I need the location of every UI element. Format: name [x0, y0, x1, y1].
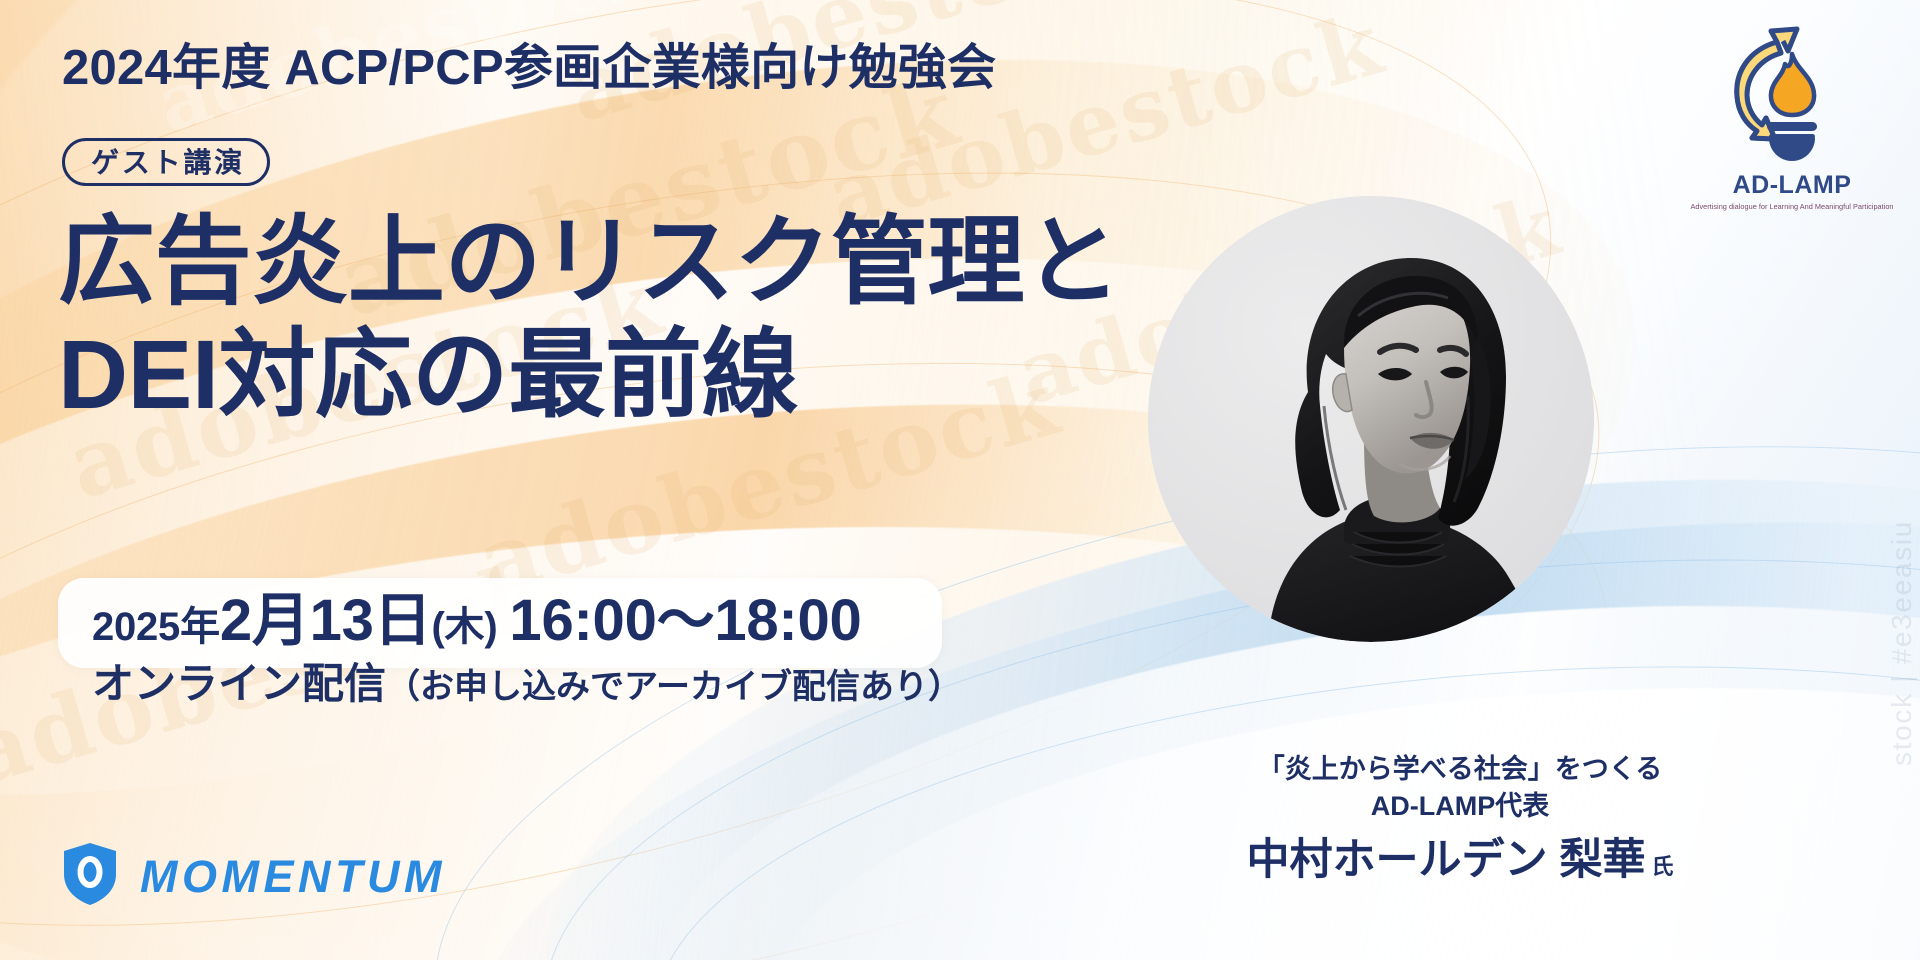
adlamp-tagline: Advertising dialogue for Learning And Me… — [1690, 203, 1894, 211]
main-title: 広告炎上のリスク管理と DEI対応の最前線 — [58, 206, 1121, 431]
adlamp-wordmark: AD-LAMP — [1692, 173, 1892, 198]
speaker-name-suffix: 氏 — [1651, 854, 1673, 879]
momentum-logo[interactable]: MOMENTUM — [62, 842, 446, 911]
shield-o-icon — [62, 842, 118, 911]
seminar-banner: adobestock adobestock adobestock adobest… — [0, 0, 1920, 960]
speaker-role: AD-LAMP代表 — [1130, 789, 1790, 824]
page-title: 2024年度 ACP/PCP参画企業様向け勉強会 — [62, 44, 996, 93]
event-weekday: (木) — [431, 605, 497, 649]
speaker-portrait — [1148, 196, 1594, 642]
event-delivery-mode: オンライン配信 — [92, 660, 386, 707]
speaker-name-row: 中村ホールデン 梨華氏 — [1130, 834, 1790, 888]
speaker-name: 中村ホールデン 梨華 — [1247, 836, 1646, 884]
event-year: 2025年 — [92, 605, 220, 649]
guest-lecture-badge: ゲスト講演 — [62, 138, 270, 186]
event-time: 16:00〜18:00 — [509, 588, 861, 653]
main-title-line-2: DEI対応の最前線 — [58, 319, 1121, 432]
lightbulb-flame-recycle-icon — [1719, 153, 1865, 170]
momentum-wordmark: MOMENTUM — [140, 854, 446, 899]
main-title-line-1: 広告炎上のリスク管理と — [58, 206, 1121, 319]
event-delivery-note: （お申し込みでアーカイブ配信あり） — [386, 668, 962, 706]
speaker-tagline: 「炎上から学べる社会」をつくる — [1130, 752, 1790, 787]
event-datetime: 2025年2月13日(木)16:00〜18:00 — [92, 592, 862, 650]
adlamp-logo[interactable]: AD-LAMP Advertising dialogue for Learnin… — [1692, 18, 1892, 211]
event-delivery: オンライン配信（お申し込みでアーカイブ配信あり） — [92, 663, 962, 705]
speaker-portrait-photo — [1148, 196, 1594, 642]
speaker-credentials: 「炎上から学べる社会」をつくる AD-LAMP代表 中村ホールデン 梨華氏 — [1130, 752, 1790, 888]
event-month-day: 2月13日 — [220, 588, 432, 653]
